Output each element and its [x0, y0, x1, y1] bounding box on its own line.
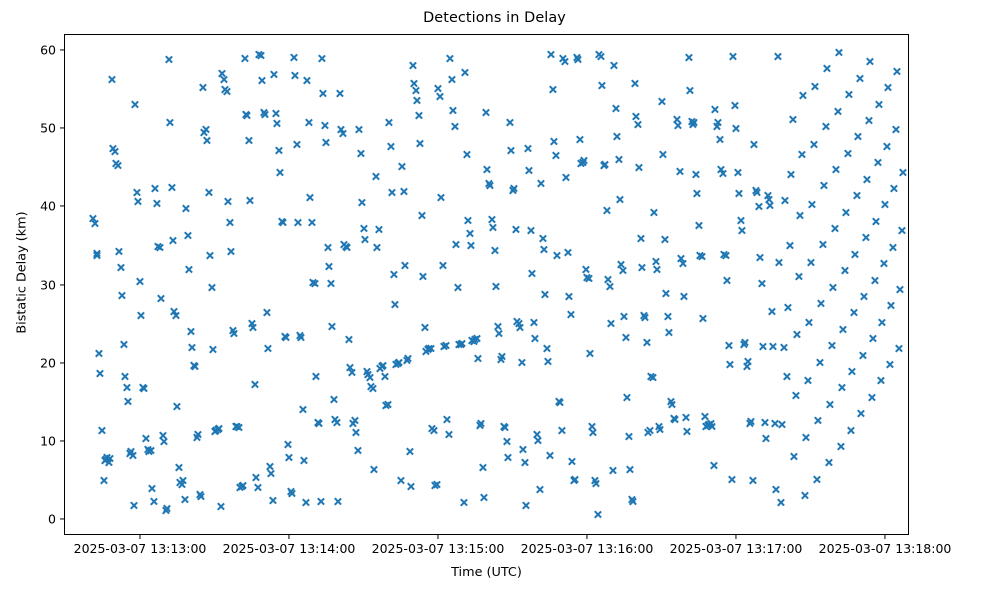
x-tick-mark	[437, 535, 438, 539]
x-tick-mark	[735, 535, 736, 539]
x-tick-label: 2025-03-07 13:16:00	[521, 541, 654, 556]
figure: Detections in Delay 0102030405060 2025-0…	[0, 0, 989, 590]
x-axis: 2025-03-07 13:13:002025-03-07 13:14:0020…	[0, 0, 989, 590]
x-tick-label: 2025-03-07 13:17:00	[670, 541, 803, 556]
x-tick-mark	[288, 535, 289, 539]
x-tick-label: 2025-03-07 13:13:00	[74, 541, 207, 556]
x-tick-mark	[586, 535, 587, 539]
y-axis-label: Bistatic Delay (km)	[15, 123, 30, 423]
x-tick-mark	[884, 535, 885, 539]
x-tick-label: 2025-03-07 13:18:00	[819, 541, 952, 556]
x-tick-mark	[139, 535, 140, 539]
x-axis-label: Time (UTC)	[64, 565, 909, 580]
x-tick-label: 2025-03-07 13:15:00	[372, 541, 505, 556]
x-tick-label: 2025-03-07 13:14:00	[223, 541, 356, 556]
